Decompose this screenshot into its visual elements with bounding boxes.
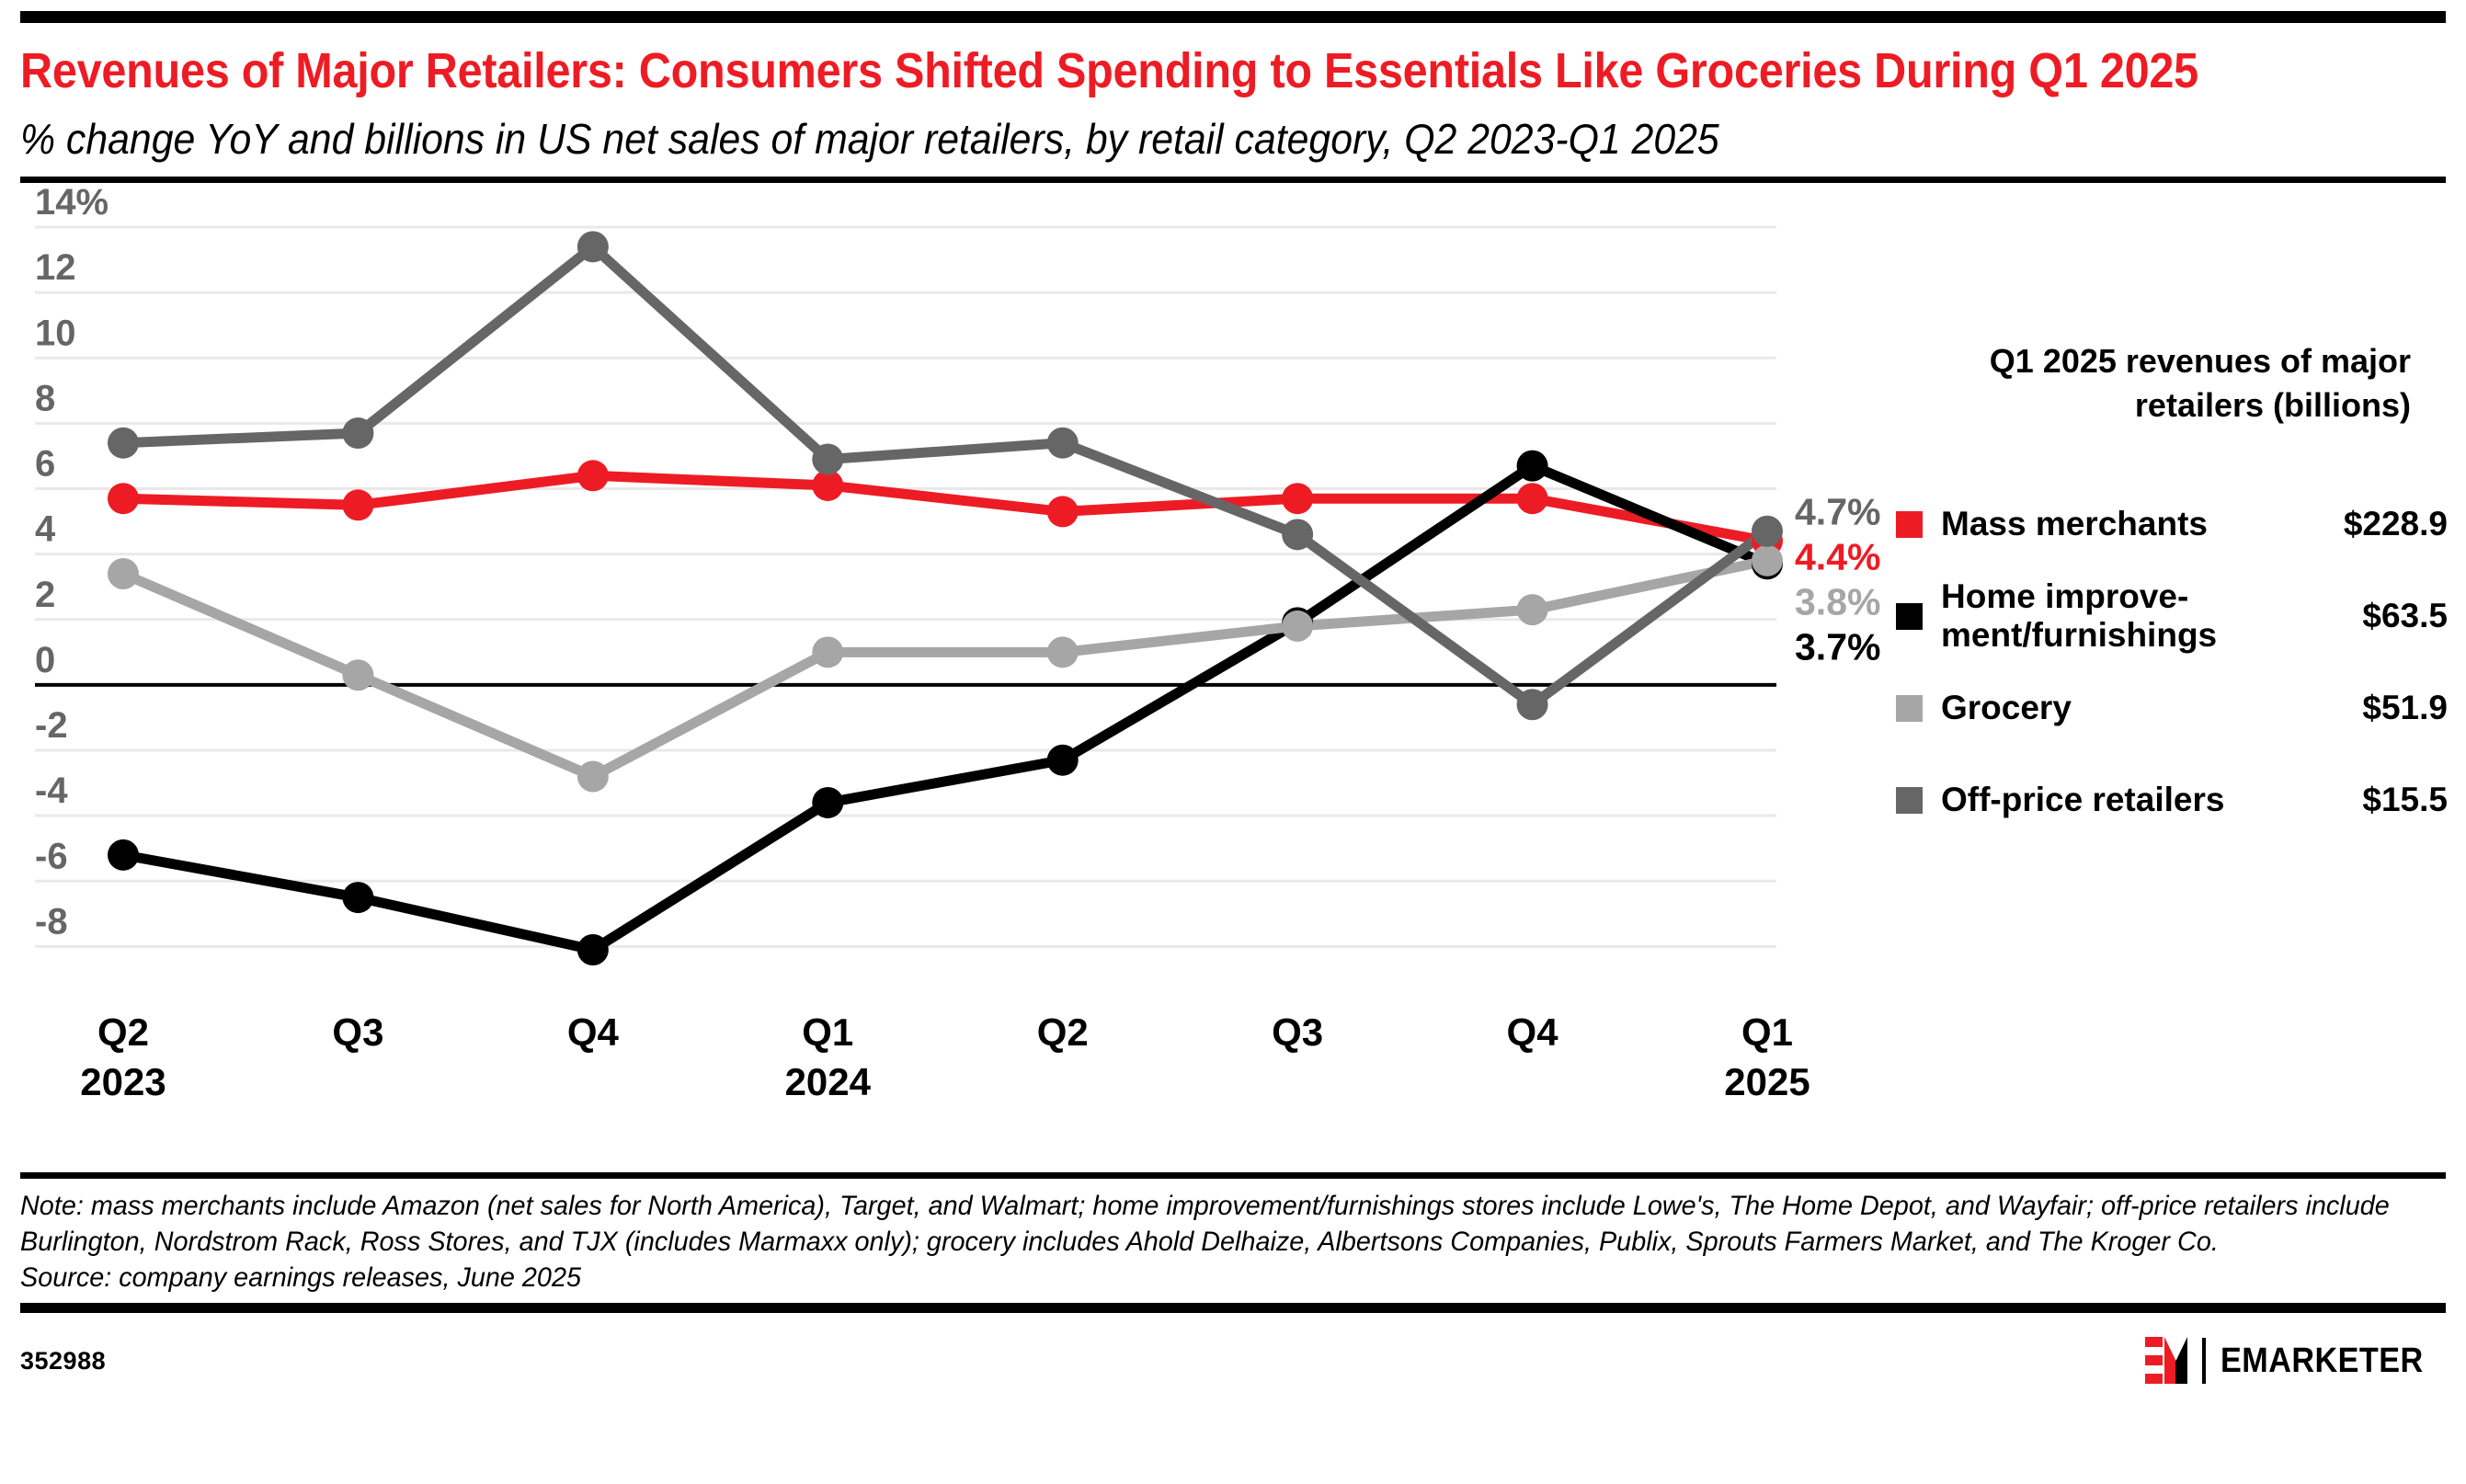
- legend-label: Mass merchants: [1941, 505, 2264, 543]
- y-axis-tick-label: -8: [35, 902, 68, 942]
- legend-value: $228.9: [2264, 505, 2448, 543]
- legend: Q1 2025 revenues of major retailers (bil…: [1896, 339, 2448, 846]
- x-axis-tick-quarter: Q3: [1272, 1010, 1323, 1054]
- bottom-rule: [20, 1303, 2446, 1313]
- y-axis-tick-label: 4: [35, 509, 56, 550]
- x-axis-tick-quarter: Q4: [1507, 1010, 1559, 1054]
- source-text: Source: company earnings releases, June …: [20, 1260, 2442, 1296]
- data-point-marker[interactable]: [108, 839, 139, 871]
- notes-divider-rule: [20, 1172, 2446, 1179]
- em-logo-icon: [2145, 1337, 2189, 1385]
- legend-row[interactable]: Home improve-ment/furnishings$63.5: [1896, 570, 2448, 662]
- legend-label: Grocery: [1941, 689, 2264, 727]
- x-axis-tick-quarter: Q2: [1037, 1010, 1089, 1054]
- data-point-marker[interactable]: [108, 428, 139, 459]
- header-divider-rule: [20, 177, 2446, 183]
- data-point-marker[interactable]: [342, 417, 373, 449]
- legend-value: $63.5: [2264, 597, 2448, 635]
- y-axis-tick-label: 2: [35, 575, 55, 615]
- y-axis-tick-label: 6: [35, 444, 55, 485]
- y-axis-tick-label: 10: [35, 314, 76, 354]
- y-axis-tick-label: 14%: [35, 183, 108, 223]
- legend-row[interactable]: Grocery$51.9: [1896, 662, 2448, 754]
- y-axis-tick-label: -6: [35, 837, 68, 877]
- y-axis-tick-label: -4: [35, 771, 68, 812]
- brand-name: EMARKETER: [2221, 1341, 2424, 1381]
- y-axis-tick-label: 8: [35, 379, 55, 419]
- x-axis-tick-quarter: Q1: [1741, 1010, 1793, 1054]
- data-point-marker[interactable]: [812, 637, 843, 668]
- legend-value: $51.9: [2264, 689, 2448, 727]
- legend-heading: Q1 2025 revenues of major retailers (bil…: [1896, 339, 2411, 427]
- chart-id: 352988: [20, 1347, 106, 1376]
- legend-swatch-icon: [1896, 787, 1923, 814]
- x-axis-tick-year: 2024: [785, 1060, 872, 1103]
- x-axis-tick-quarter: Q3: [332, 1010, 383, 1054]
- data-point-marker[interactable]: [812, 787, 843, 818]
- chart-area: 14%121086420-2-4-6-84.7%4.4%3.8%3.7%Q220…: [20, 183, 2446, 1167]
- y-axis-tick-label: 12: [35, 247, 76, 288]
- footer: 352988 EMARKETER: [20, 1337, 2446, 1385]
- data-point-marker[interactable]: [108, 558, 139, 589]
- data-point-marker[interactable]: [1282, 611, 1313, 642]
- data-point-marker[interactable]: [577, 461, 609, 492]
- top-rule: [20, 11, 2446, 23]
- data-point-marker[interactable]: [342, 660, 373, 691]
- data-point-marker[interactable]: [1517, 594, 1548, 625]
- legend-swatch-icon: [1896, 511, 1923, 538]
- data-point-marker[interactable]: [1517, 690, 1548, 721]
- brand-lockup: EMARKETER: [2145, 1337, 2446, 1385]
- legend-row[interactable]: Off-price retailers$15.5: [1896, 754, 2448, 846]
- x-axis-tick-year: 2025: [1724, 1060, 1810, 1103]
- data-point-marker[interactable]: [1752, 545, 1783, 576]
- data-point-marker[interactable]: [1282, 519, 1313, 551]
- legend-swatch-icon: [1896, 603, 1923, 630]
- series-end-label: 4.4%: [1795, 536, 1880, 578]
- x-axis-tick-quarter: Q4: [567, 1010, 620, 1054]
- series-end-label: 4.7%: [1795, 491, 1880, 533]
- x-axis-tick-quarter: Q2: [97, 1010, 149, 1054]
- data-point-marker[interactable]: [1047, 637, 1079, 668]
- data-point-marker[interactable]: [1517, 484, 1548, 515]
- data-point-marker[interactable]: [577, 232, 609, 263]
- series-end-label: 3.7%: [1795, 626, 1880, 668]
- data-point-marker[interactable]: [577, 934, 609, 965]
- x-axis-tick-quarter: Q1: [802, 1010, 853, 1054]
- data-point-marker[interactable]: [577, 761, 609, 793]
- series-end-label: 3.8%: [1795, 581, 1880, 623]
- data-point-marker[interactable]: [1752, 516, 1783, 547]
- x-axis-tick-year: 2023: [80, 1060, 166, 1103]
- data-point-marker[interactable]: [1517, 451, 1548, 482]
- data-point-marker[interactable]: [1047, 497, 1079, 528]
- data-point-marker[interactable]: [1047, 745, 1079, 776]
- data-point-marker[interactable]: [1047, 428, 1079, 459]
- page-title: Revenues of Major Retailers: Consumers S…: [20, 43, 2443, 98]
- legend-rows: Mass merchants$228.9Home improve-ment/fu…: [1896, 478, 2448, 846]
- legend-swatch-icon: [1896, 695, 1923, 722]
- data-point-marker[interactable]: [342, 490, 373, 521]
- chart-page: Revenues of Major Retailers: Consumers S…: [0, 11, 2466, 1484]
- data-point-marker[interactable]: [812, 444, 843, 475]
- legend-row[interactable]: Mass merchants$228.9: [1896, 478, 2448, 570]
- data-point-marker[interactable]: [342, 882, 373, 913]
- note-text: Note: mass merchants include Amazon (net…: [20, 1188, 2442, 1260]
- legend-value: $15.5: [2264, 781, 2448, 819]
- y-axis-tick-label: -2: [35, 705, 68, 746]
- data-point-marker[interactable]: [1282, 484, 1313, 515]
- data-point-marker[interactable]: [108, 484, 139, 515]
- page-subtitle: % change YoY and billions in US net sale…: [20, 115, 2457, 164]
- y-axis-tick-label: 0: [35, 640, 55, 680]
- brand-divider: [2202, 1338, 2206, 1384]
- legend-label: Off-price retailers: [1941, 781, 2264, 819]
- legend-label: Home improve-ment/furnishings: [1941, 577, 2264, 655]
- footnotes: Note: mass merchants include Amazon (net…: [20, 1188, 2442, 1296]
